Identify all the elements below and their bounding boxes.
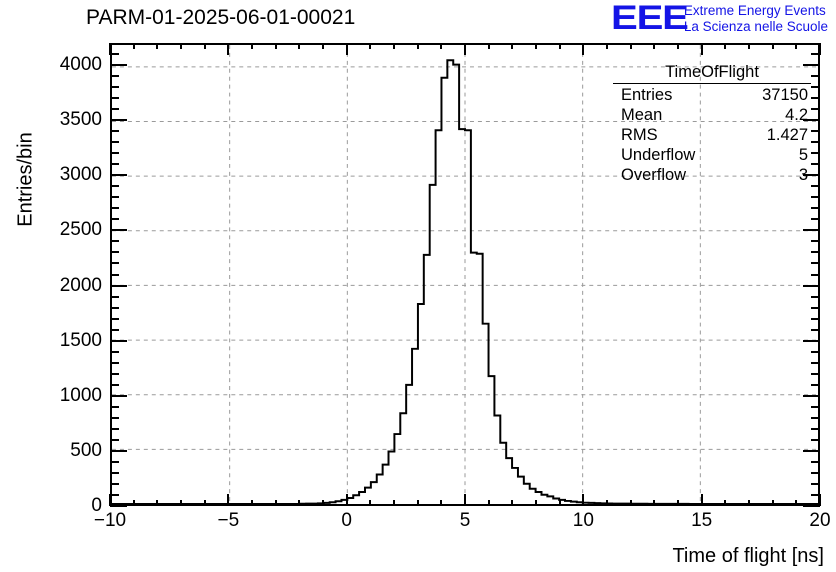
y-minor-tick-right xyxy=(811,296,820,298)
y-minor-tick xyxy=(110,406,119,408)
y-minor-tick xyxy=(110,207,119,209)
x-axis-title: Time of flight [ns] xyxy=(672,545,824,568)
x-minor-tick-top xyxy=(511,43,513,49)
x-minor-tick-top xyxy=(393,43,395,49)
x-minor-tick-top xyxy=(322,43,324,49)
x-tick-label: 0 xyxy=(341,510,352,532)
y-major-tick-right xyxy=(803,505,820,507)
y-tick-label: 1500 xyxy=(0,330,102,352)
x-minor-tick xyxy=(772,500,774,506)
y-minor-tick xyxy=(110,262,119,264)
x-major-tick xyxy=(227,494,229,506)
x-minor-tick-top xyxy=(298,43,300,49)
y-major-tick xyxy=(110,285,127,287)
y-minor-tick-right xyxy=(811,417,820,419)
stats-row-label: Entries xyxy=(621,85,672,105)
y-minor-tick xyxy=(110,86,119,88)
y-minor-tick-right xyxy=(811,108,820,110)
y-tick-label: 500 xyxy=(0,440,102,462)
y-minor-tick xyxy=(110,97,119,99)
x-minor-tick xyxy=(653,500,655,506)
x-minor-tick xyxy=(606,500,608,506)
x-minor-tick-top xyxy=(677,43,679,49)
y-minor-tick xyxy=(110,141,119,143)
x-major-tick-top xyxy=(582,43,584,55)
y-minor-tick xyxy=(110,384,119,386)
y-tick-label: 1000 xyxy=(0,385,102,407)
y-minor-tick xyxy=(110,130,119,132)
y-tick-label: 2500 xyxy=(0,219,102,241)
y-minor-tick-right xyxy=(811,329,820,331)
x-major-tick xyxy=(346,494,348,506)
y-minor-tick xyxy=(110,240,119,242)
stats-title: TimeOfFlight xyxy=(613,62,811,84)
x-minor-tick xyxy=(156,500,158,506)
x-minor-tick-top xyxy=(275,43,277,49)
y-minor-tick-right xyxy=(811,439,820,441)
y-minor-tick-right xyxy=(811,483,820,485)
x-minor-tick xyxy=(322,500,324,506)
x-tick-label: −5 xyxy=(217,510,239,532)
x-major-tick-top xyxy=(464,43,466,55)
x-minor-tick-top xyxy=(133,43,135,49)
y-tick-label: 0 xyxy=(0,495,102,517)
y-major-tick xyxy=(110,505,127,507)
y-minor-tick xyxy=(110,373,119,375)
x-minor-tick-top xyxy=(606,43,608,49)
y-major-tick xyxy=(110,340,127,342)
x-minor-tick-top xyxy=(204,43,206,49)
x-minor-tick xyxy=(630,500,632,506)
y-minor-tick-right xyxy=(811,97,820,99)
x-minor-tick-top xyxy=(772,43,774,49)
x-minor-tick xyxy=(488,500,490,506)
x-major-tick xyxy=(701,494,703,506)
y-tick-label: 3500 xyxy=(0,109,102,131)
x-minor-tick xyxy=(511,500,513,506)
y-major-tick-right xyxy=(803,229,820,231)
y-minor-tick-right xyxy=(811,428,820,430)
y-minor-tick-right xyxy=(811,351,820,353)
y-minor-tick-right xyxy=(811,75,820,77)
y-minor-tick-right xyxy=(811,373,820,375)
y-major-tick xyxy=(110,119,127,121)
x-minor-tick xyxy=(535,500,537,506)
y-minor-tick-right xyxy=(811,130,820,132)
y-minor-tick-right xyxy=(811,53,820,55)
stats-row-value: 4.2 xyxy=(785,105,808,125)
y-minor-tick xyxy=(110,472,119,474)
x-minor-tick-top xyxy=(251,43,253,49)
stats-row: Mean4.2 xyxy=(613,105,811,125)
y-minor-tick-right xyxy=(811,262,820,264)
y-minor-tick-right xyxy=(811,163,820,165)
x-minor-tick xyxy=(180,500,182,506)
x-minor-tick-top xyxy=(440,43,442,49)
stats-row: Underflow5 xyxy=(613,145,811,165)
stats-row: Overflow3 xyxy=(613,165,811,185)
y-minor-tick xyxy=(110,439,119,441)
y-minor-tick-right xyxy=(811,218,820,220)
y-minor-tick xyxy=(110,185,119,187)
y-major-tick xyxy=(110,174,127,176)
y-minor-tick xyxy=(110,318,119,320)
x-minor-tick xyxy=(133,500,135,506)
y-minor-tick xyxy=(110,75,119,77)
y-minor-tick-right xyxy=(811,240,820,242)
y-minor-tick-right xyxy=(811,185,820,187)
x-major-tick xyxy=(582,494,584,506)
x-minor-tick-top xyxy=(795,43,797,49)
x-minor-tick xyxy=(251,500,253,506)
y-minor-tick xyxy=(110,251,119,253)
y-tick-label: 4000 xyxy=(0,54,102,76)
y-minor-tick xyxy=(110,274,119,276)
stats-row-label: Mean xyxy=(621,105,662,125)
x-minor-tick xyxy=(724,500,726,506)
x-minor-tick-top xyxy=(724,43,726,49)
y-minor-tick xyxy=(110,307,119,309)
stats-row-value: 1.427 xyxy=(767,125,808,145)
y-minor-tick xyxy=(110,483,119,485)
y-minor-tick xyxy=(110,428,119,430)
eee-logo-mark: EEE xyxy=(611,2,688,34)
x-major-tick-top xyxy=(227,43,229,55)
y-major-tick-right xyxy=(803,285,820,287)
y-minor-tick-right xyxy=(811,251,820,253)
y-minor-tick-right xyxy=(811,152,820,154)
x-minor-tick-top xyxy=(488,43,490,49)
y-minor-tick xyxy=(110,461,119,463)
x-minor-tick xyxy=(393,500,395,506)
y-minor-tick-right xyxy=(811,207,820,209)
x-minor-tick xyxy=(677,500,679,506)
y-minor-tick xyxy=(110,417,119,419)
stats-row-label: Overflow xyxy=(621,165,686,185)
y-minor-tick xyxy=(110,362,119,364)
y-minor-tick-right xyxy=(811,461,820,463)
x-tick-label: 10 xyxy=(573,510,594,532)
y-tick-label: 3000 xyxy=(0,164,102,186)
y-minor-tick-right xyxy=(811,196,820,198)
y-major-tick-right xyxy=(803,395,820,397)
stats-row-label: Underflow xyxy=(621,145,695,165)
x-major-tick-top xyxy=(346,43,348,55)
stats-row-label: RMS xyxy=(621,125,658,145)
y-minor-tick-right xyxy=(811,362,820,364)
y-minor-tick-right xyxy=(811,274,820,276)
x-minor-tick xyxy=(748,500,750,506)
y-minor-tick xyxy=(110,196,119,198)
eee-logo-text: Extreme Energy Events La Scienza nelle S… xyxy=(684,2,828,35)
y-minor-tick-right xyxy=(811,472,820,474)
y-minor-tick-right xyxy=(811,406,820,408)
y-minor-tick xyxy=(110,218,119,220)
y-minor-tick xyxy=(110,163,119,165)
x-minor-tick xyxy=(204,500,206,506)
y-major-tick-right xyxy=(803,450,820,452)
stats-row: RMS1.427 xyxy=(613,125,811,145)
y-minor-tick xyxy=(110,329,119,331)
x-minor-tick xyxy=(298,500,300,506)
y-major-tick xyxy=(110,229,127,231)
x-minor-tick xyxy=(795,500,797,506)
y-major-tick xyxy=(110,450,127,452)
y-minor-tick-right xyxy=(811,141,820,143)
x-minor-tick-top xyxy=(559,43,561,49)
x-minor-tick-top xyxy=(180,43,182,49)
eee-logo-line1: Extreme Energy Events xyxy=(684,3,828,19)
x-minor-tick xyxy=(440,500,442,506)
y-minor-tick-right xyxy=(811,494,820,496)
x-tick-label: 5 xyxy=(460,510,471,532)
eee-logo-line2: La Scienza nelle Scuole xyxy=(684,19,828,35)
x-minor-tick-top xyxy=(535,43,537,49)
eee-logo: EEE Extreme Energy Events La Scienza nel… xyxy=(611,2,828,35)
y-minor-tick xyxy=(110,108,119,110)
stats-row-value: 3 xyxy=(799,165,808,185)
x-minor-tick-top xyxy=(748,43,750,49)
x-minor-tick xyxy=(275,500,277,506)
y-minor-tick xyxy=(110,296,119,298)
x-minor-tick xyxy=(369,500,371,506)
y-minor-tick-right xyxy=(811,384,820,386)
x-minor-tick-top xyxy=(630,43,632,49)
x-minor-tick xyxy=(559,500,561,506)
x-major-tick xyxy=(464,494,466,506)
y-major-tick-right xyxy=(803,340,820,342)
x-minor-tick-top xyxy=(417,43,419,49)
statistics-box: TimeOfFlight Entries37150Mean4.2RMS1.427… xyxy=(613,62,811,185)
page-title: PARM-01-2025-06-01-00021 xyxy=(86,6,355,30)
y-minor-tick xyxy=(110,494,119,496)
y-major-tick xyxy=(110,395,127,397)
x-minor-tick-top xyxy=(653,43,655,49)
x-minor-tick-top xyxy=(156,43,158,49)
y-minor-tick-right xyxy=(811,307,820,309)
y-minor-tick-right xyxy=(811,318,820,320)
x-tick-label: 15 xyxy=(691,510,712,532)
x-tick-label: 20 xyxy=(809,510,830,532)
y-minor-tick xyxy=(110,53,119,55)
stats-rows: Entries37150Mean4.2RMS1.427Underflow5Ove… xyxy=(613,85,811,185)
y-minor-tick xyxy=(110,152,119,154)
y-tick-label: 2000 xyxy=(0,275,102,297)
x-minor-tick-top xyxy=(369,43,371,49)
stats-row-value: 37150 xyxy=(762,85,808,105)
chart-page: PARM-01-2025-06-01-00021 EEE Extreme Ene… xyxy=(0,0,836,572)
y-minor-tick xyxy=(110,351,119,353)
stats-row: Entries37150 xyxy=(613,85,811,105)
stats-row-value: 5 xyxy=(799,145,808,165)
y-major-tick xyxy=(110,64,127,66)
y-minor-tick-right xyxy=(811,86,820,88)
x-minor-tick xyxy=(417,500,419,506)
x-major-tick-top xyxy=(701,43,703,55)
